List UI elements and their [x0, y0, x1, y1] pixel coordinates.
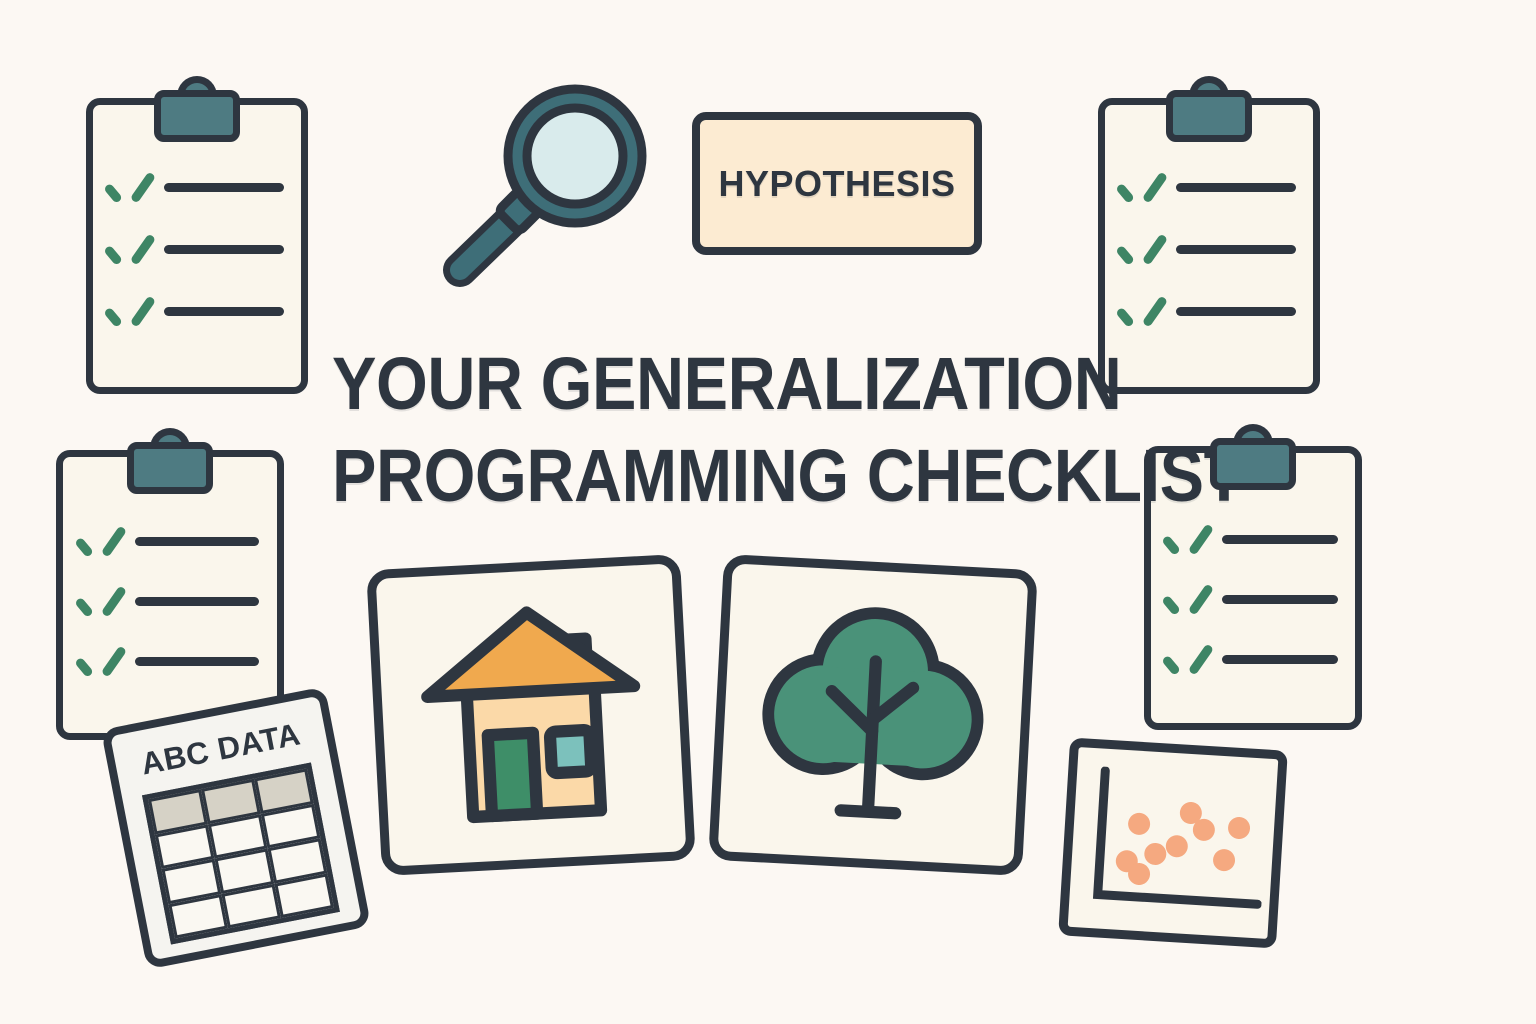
- checkmark-icon: [81, 644, 119, 678]
- checkmark-icon: [1122, 232, 1160, 266]
- list-item[interactable]: [1122, 232, 1295, 266]
- list-item-line: [135, 537, 259, 546]
- list-item[interactable]: [1122, 170, 1295, 204]
- clipboard-clip-icon: [1166, 90, 1252, 142]
- list-item[interactable]: [1168, 522, 1338, 556]
- checkmark-icon: [110, 170, 148, 204]
- list-item[interactable]: [110, 232, 283, 266]
- scatter-plot-axes: [1089, 766, 1269, 918]
- illustration-canvas: HYPOTHESIS YOUR GENERALIZATION PROGRAMMI…: [0, 0, 1536, 1024]
- tree-icon: [718, 563, 1029, 866]
- clipboard-bottom-left[interactable]: [56, 428, 284, 740]
- list-item[interactable]: [1168, 642, 1338, 676]
- list-item-line: [1222, 535, 1338, 544]
- house-icon: [376, 563, 687, 866]
- list-item-line: [164, 245, 283, 254]
- clipboard-items: [1098, 98, 1320, 394]
- list-item[interactable]: [81, 644, 259, 678]
- house-card[interactable]: [366, 554, 696, 876]
- list-item[interactable]: [1122, 294, 1295, 328]
- list-item-line: [1176, 183, 1295, 192]
- clipboard-clip-icon: [127, 442, 213, 494]
- checkmark-icon: [1122, 294, 1160, 328]
- clipboard-top-left[interactable]: [86, 76, 308, 394]
- page-title: YOUR GENERALIZATION PROGRAMMING CHECKLIS…: [332, 338, 1088, 522]
- list-item[interactable]: [81, 524, 259, 558]
- hypothesis-card[interactable]: HYPOTHESIS: [692, 112, 982, 255]
- data-table-card[interactable]: ABC DATA: [101, 686, 371, 969]
- list-item-line: [1222, 595, 1338, 604]
- list-item-line: [164, 307, 283, 316]
- checkmark-icon: [81, 584, 119, 618]
- magnifying-glass-icon: [430, 78, 660, 303]
- hypothesis-label: HYPOTHESIS: [718, 163, 955, 205]
- checkmark-icon: [1168, 642, 1206, 676]
- list-item[interactable]: [1168, 582, 1338, 616]
- page-title-line-2: PROGRAMMING CHECKLIST: [332, 430, 1088, 522]
- list-item-line: [1176, 245, 1295, 254]
- checkmark-icon: [1168, 582, 1206, 616]
- list-item-line: [135, 597, 259, 606]
- checkmark-icon: [110, 232, 148, 266]
- checkmark-icon: [81, 524, 119, 558]
- checkmark-icon: [1168, 522, 1206, 556]
- scatter-plot-card[interactable]: [1058, 738, 1288, 949]
- checkmark-icon: [1122, 170, 1160, 204]
- list-item[interactable]: [110, 294, 283, 328]
- clipboard-clip-icon: [154, 90, 240, 142]
- list-item-line: [164, 183, 283, 192]
- list-item-line: [1176, 307, 1295, 316]
- tree-card[interactable]: [708, 554, 1038, 876]
- data-table-grid: [142, 763, 340, 945]
- list-item[interactable]: [81, 584, 259, 618]
- clipboard-top-right[interactable]: [1098, 76, 1320, 394]
- page-title-line-1: YOUR GENERALIZATION: [332, 338, 1088, 430]
- clipboard-items: [86, 98, 308, 394]
- list-item[interactable]: [110, 170, 283, 204]
- list-item-line: [1222, 655, 1338, 664]
- list-item-line: [135, 657, 259, 666]
- checkmark-icon: [110, 294, 148, 328]
- clipboard-clip-icon: [1210, 438, 1296, 490]
